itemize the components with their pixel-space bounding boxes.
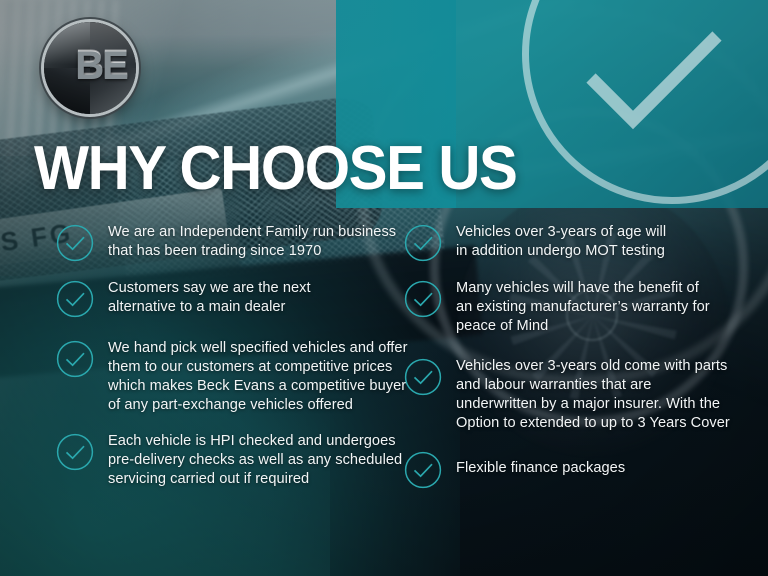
check-circle-icon xyxy=(404,358,442,396)
list-item-label: Flexible finance packages xyxy=(456,449,625,478)
feature-column-right: Vehicles over 3-years of age will in add… xyxy=(404,222,764,505)
beck-evans-roundel-logo[interactable]: BE xyxy=(44,22,136,114)
check-circle-icon xyxy=(56,340,94,378)
logo-letters: BE xyxy=(44,22,136,114)
list-item: Many vehicles will have the benefit of a… xyxy=(404,278,764,336)
check-circle-icon xyxy=(404,451,442,489)
check-circle-icon xyxy=(404,280,442,318)
list-item: Flexible finance packages xyxy=(404,449,764,489)
check-circle-icon xyxy=(56,433,94,471)
list-item: Customers say we are the next alternativ… xyxy=(56,278,416,318)
list-item: Each vehicle is HPI checked and undergoe… xyxy=(56,431,416,489)
list-item-label: We are an Independent Family run busines… xyxy=(108,222,396,261)
list-item-label: Many vehicles will have the benefit of a… xyxy=(456,278,710,336)
page-title: WHY CHOOSE US xyxy=(34,138,517,200)
list-item-label: Each vehicle is HPI checked and undergoe… xyxy=(108,431,402,489)
feature-column-left: We are an Independent Family run busines… xyxy=(56,222,416,505)
check-mark-icon xyxy=(583,16,725,158)
check-circle-icon xyxy=(56,224,94,262)
check-circle-icon xyxy=(404,224,442,262)
list-item: We hand pick well specified vehicles and… xyxy=(56,338,416,415)
check-circle-icon xyxy=(56,280,94,318)
list-item-label: Vehicles over 3-years of age will in add… xyxy=(456,222,666,261)
list-item-label: We hand pick well specified vehicles and… xyxy=(108,338,407,415)
list-item: Vehicles over 3-years old come with part… xyxy=(404,356,764,433)
list-item-label: Vehicles over 3-years old come with part… xyxy=(456,356,730,433)
why-choose-us-slide: S FG BE WHY CHOOSE US xyxy=(0,0,768,576)
list-item: Vehicles over 3-years of age will in add… xyxy=(404,222,764,262)
list-item: We are an Independent Family run busines… xyxy=(56,222,416,262)
list-item-label: Customers say we are the next alternativ… xyxy=(108,278,311,317)
